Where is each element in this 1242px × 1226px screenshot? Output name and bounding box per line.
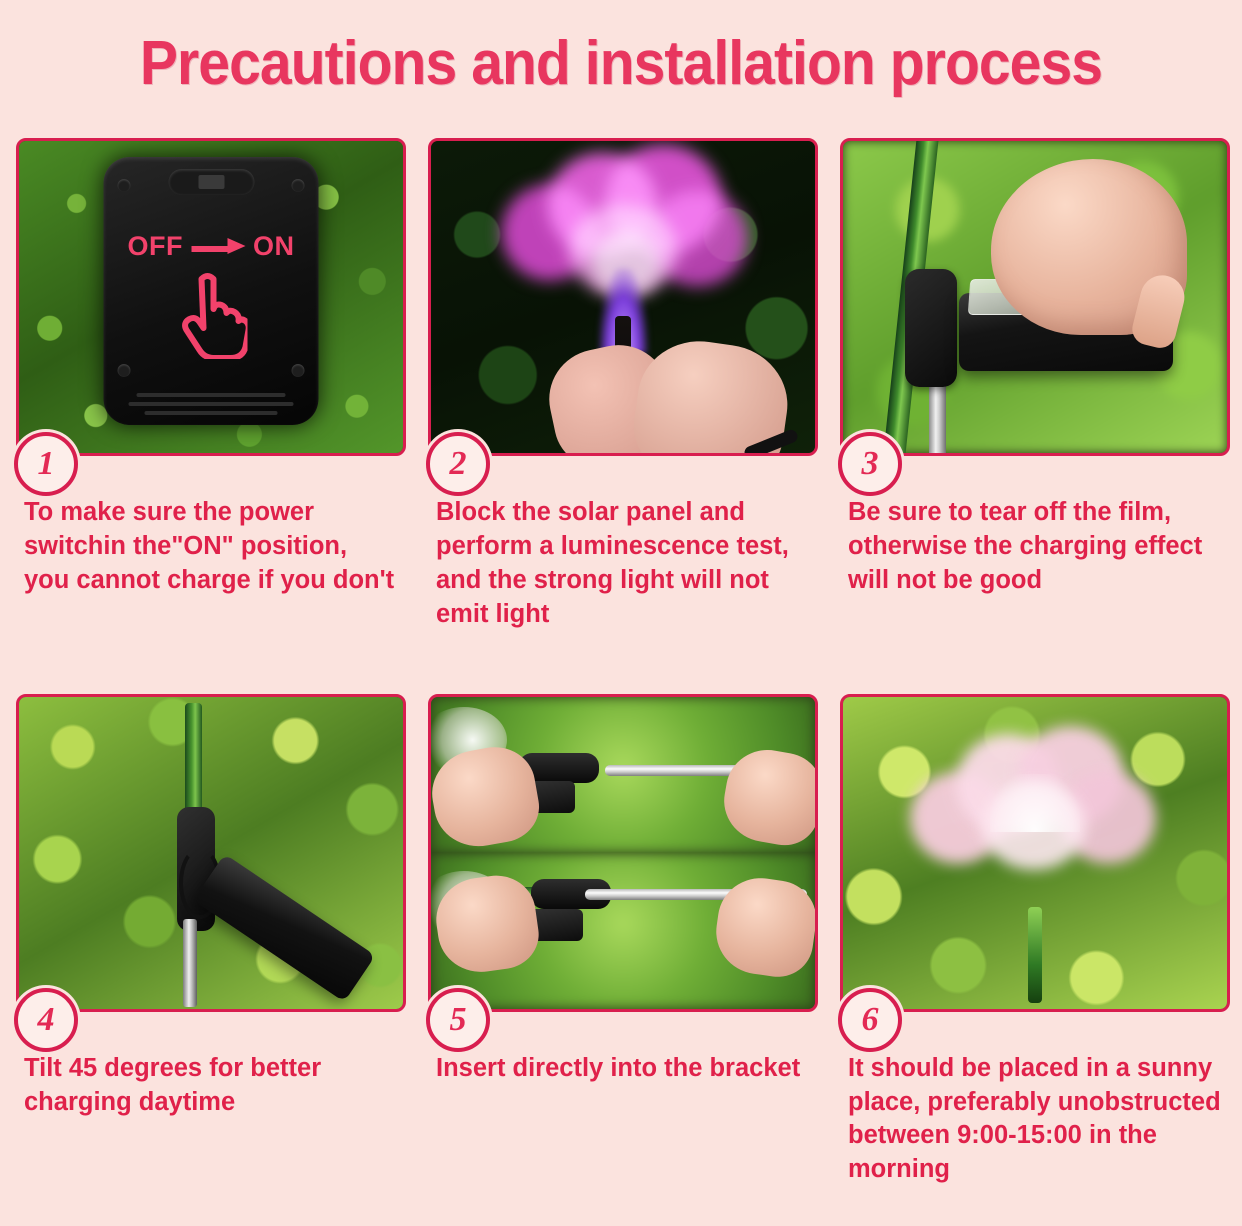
step-card-6: 6 It should be placed in a sunny place, … (840, 694, 1230, 1188)
on-label: ON (253, 231, 295, 262)
step-photo-2 (428, 138, 818, 456)
step-caption-5: Insert directly into the bracket (428, 1052, 810, 1086)
step-photo-3 (840, 138, 1230, 456)
step-caption-1: To make sure the power switchin the"ON" … (16, 496, 398, 598)
step-badge-1: 1 (14, 432, 78, 496)
chrome-stake (183, 919, 197, 1007)
step-photo-5 (428, 694, 818, 1012)
step-photo-5-top (431, 697, 815, 853)
arrow-right-icon (191, 238, 245, 254)
step-photo-5-bottom (431, 853, 815, 1009)
screw-icon (118, 179, 131, 192)
infographic-page: Precautions and installation process OFF (0, 0, 1242, 1226)
fine-print-lines (116, 393, 307, 415)
step-badge-5: 5 (426, 988, 490, 1052)
step-caption-4: Tilt 45 degrees for better charging dayt… (16, 1052, 398, 1120)
flower-stem (1028, 907, 1042, 1003)
screw-icon (292, 179, 305, 192)
step-badge-4: 4 (14, 988, 78, 1052)
pointing-hand-icon (175, 273, 247, 359)
pink-flower-light (910, 720, 1160, 910)
step-caption-6: It should be placed in a sunny place, pr… (840, 1052, 1222, 1188)
step-card-1: OFF ON 1 (16, 138, 406, 632)
hand-peeling-film (991, 159, 1187, 335)
black-clamp (905, 269, 957, 387)
green-pole (185, 703, 202, 819)
step-photo-6 (840, 694, 1230, 1012)
step-card-4: 4 Tilt 45 degrees for better charging da… (16, 694, 406, 1188)
step-caption-2: Block the solar panel and perform a lumi… (428, 496, 810, 632)
step-badge-2: 2 (426, 432, 490, 496)
step-photo-1: OFF ON (16, 138, 406, 456)
step-caption-3: Be sure to tear off the film, otherwise … (840, 496, 1222, 598)
step-card-3: 3 Be sure to tear off the film, otherwis… (840, 138, 1230, 632)
step-badge-3: 3 (838, 432, 902, 496)
step-card-5: 5 Insert directly into the bracket (428, 694, 818, 1188)
screw-icon (118, 364, 131, 377)
fiber-fan (990, 774, 1080, 832)
page-title: Precautions and installation process (50, 28, 1193, 99)
off-on-overlay: OFF ON (104, 231, 319, 262)
step-badge-6: 6 (838, 988, 902, 1052)
screw-icon (292, 364, 305, 377)
step-card-2: 2 Block the solar panel and perform a lu… (428, 138, 818, 632)
off-label: OFF (128, 231, 184, 262)
solar-switch-box: OFF ON (104, 157, 319, 425)
steps-grid: OFF ON 1 (16, 138, 1226, 1187)
step-photo-4 (16, 694, 406, 1012)
switch-slot (168, 169, 254, 195)
